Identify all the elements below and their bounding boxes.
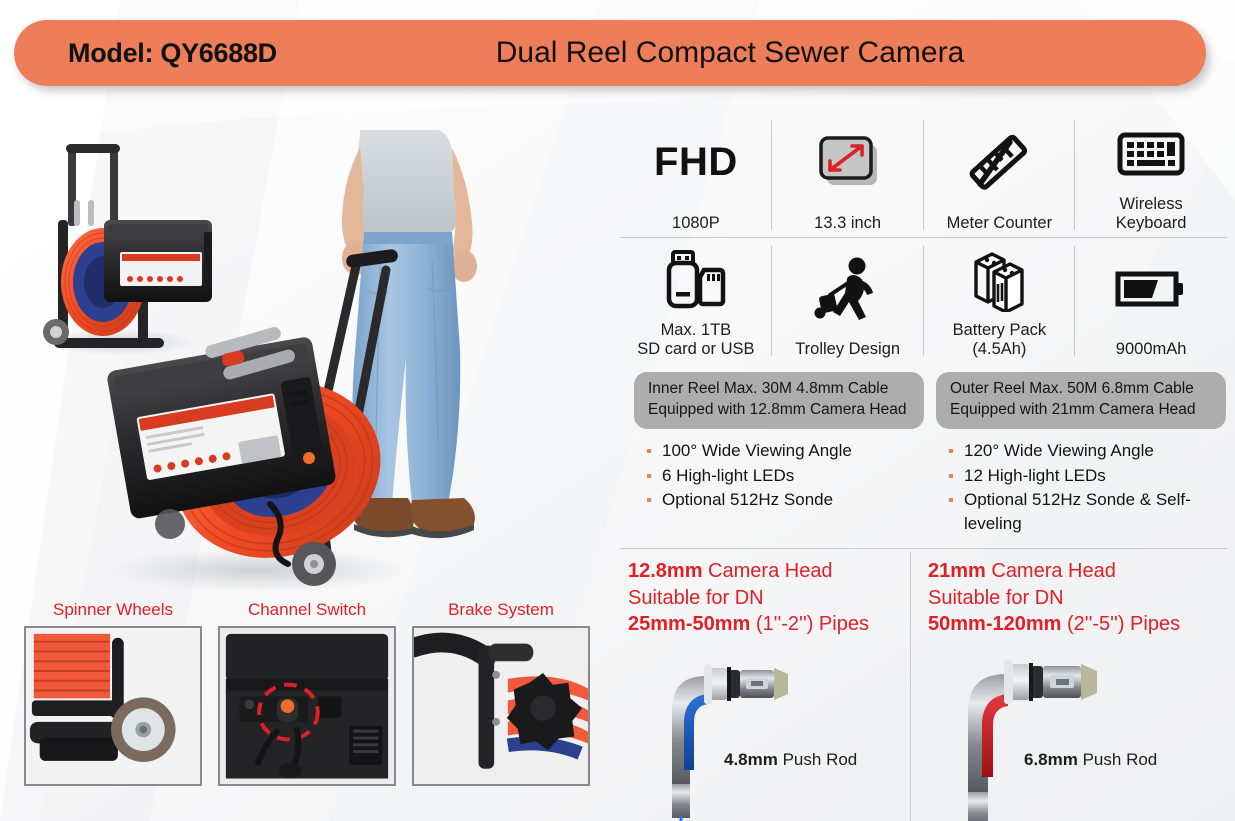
- list-item: 12 High-light LEDs: [948, 464, 1226, 487]
- spec-icon-grid: FHD 1080P 13.3 inch: [620, 112, 1227, 364]
- camera-head-range: 25mm-50mm: [628, 613, 750, 635]
- list-item: 6 High-light LEDs: [646, 464, 924, 487]
- camera-head-subtitle: Suitable for DN: [928, 587, 1064, 609]
- outer-reel-feature-list: 120° Wide Viewing Angle 12 High-light LE…: [936, 439, 1226, 535]
- usb-sdcard-icon: [620, 238, 772, 321]
- camera-head-illustration-large: 6.8mm Push Rod: [928, 650, 1218, 821]
- camera-head-title-rest: Camera Head: [986, 560, 1116, 582]
- spec-cell-capacity: 9000mAh: [1075, 238, 1227, 364]
- camera-head-size: 21mm: [928, 560, 986, 582]
- trolley-walker-icon: [772, 238, 924, 340]
- list-item: 120° Wide Viewing Angle: [948, 439, 1226, 462]
- battery-level-icon: [1075, 238, 1227, 340]
- camera-head-large: 21mm Camera Head Suitable for DN 50mm-12…: [928, 558, 1218, 821]
- spec-cell-keyboard: Wireless Keyboard: [1075, 112, 1227, 238]
- spec-label: Meter Counter: [947, 214, 1052, 232]
- spec-label: 9000mAh: [1116, 340, 1187, 358]
- spec-label: Trolley Design: [795, 340, 900, 358]
- camera-head-subtitle: Suitable for DN: [628, 587, 764, 609]
- thumbnail-brake-system: Brake System: [412, 600, 590, 800]
- camera-head-range: 50mm-120mm: [928, 613, 1061, 635]
- header-banner: Model: QY6688D Dual Reel Compact Sewer C…: [14, 20, 1206, 86]
- battery-pack-icon: [924, 238, 1076, 321]
- camera-head-range-rest: (2''-5'') Pipes: [1061, 613, 1180, 635]
- channel-switch-photo: [218, 626, 396, 786]
- push-rod-label: 6.8mm Push Rod: [1024, 750, 1157, 770]
- hero-product-photo: [8, 100, 608, 600]
- camera-head-range-rest: (1''-2'') Pipes: [750, 613, 869, 635]
- fhd-text-icon: FHD: [620, 112, 772, 214]
- product-spec-sheet: Model: QY6688D Dual Reel Compact Sewer C…: [0, 0, 1235, 821]
- inner-reel-callout: Inner Reel Max. 30M 4.8mm Cable Equipped…: [634, 372, 924, 429]
- spec-label: Wireless Keyboard: [1116, 195, 1187, 232]
- ruler-icon: [924, 112, 1076, 214]
- spec-cell-storage: Max. 1TB SD card or USB: [620, 238, 772, 364]
- thumbnail-caption: Brake System: [412, 600, 590, 620]
- camera-head-title-rest: Camera Head: [703, 560, 833, 582]
- inner-reel-line-2: Equipped with 12.8mm Camera Head: [648, 400, 910, 421]
- outer-reel-spec: Outer Reel Max. 50M 6.8mm Cable Equipped…: [936, 372, 1226, 536]
- push-rod-label: 4.8mm Push Rod: [724, 750, 857, 770]
- outer-reel-callout: Outer Reel Max. 50M 6.8mm Cable Equipped…: [936, 372, 1226, 429]
- thumbnail-caption: Channel Switch: [218, 600, 396, 620]
- camera-head-size: 12.8mm: [628, 560, 703, 582]
- inner-reel-spec: Inner Reel Max. 30M 4.8mm Cable Equipped…: [634, 372, 924, 513]
- push-rod-rest: Push Rod: [778, 750, 857, 769]
- inner-reel-feature-list: 100° Wide Viewing Angle 6 High-light LED…: [634, 439, 924, 511]
- feature-thumbnail-row: Spinner Wheels: [24, 600, 604, 800]
- push-rod-size: 4.8mm: [724, 750, 778, 769]
- page-title: Dual Reel Compact Sewer Camera: [14, 36, 1206, 70]
- spec-cell-trolley: Trolley Design: [772, 238, 924, 364]
- reel-specs-row: Inner Reel Max. 30M 4.8mm Cable Equipped…: [620, 372, 1227, 538]
- thumbnail-caption: Spinner Wheels: [24, 600, 202, 620]
- list-item: Optional 512Hz Sonde & Self-leveling: [948, 488, 1226, 535]
- push-rod-rest: Push Rod: [1078, 750, 1157, 769]
- keyboard-icon: [1075, 112, 1227, 195]
- thumbnail-channel-switch: Channel Switch: [218, 600, 396, 800]
- spec-label: 13.3 inch: [814, 214, 881, 232]
- spec-label: 1080P: [672, 214, 720, 232]
- left-panel: Spinner Wheels: [0, 100, 612, 821]
- list-item: Optional 512Hz Sonde: [646, 488, 924, 511]
- camera-head-title: 21mm Camera Head Suitable for DN 50mm-12…: [928, 558, 1218, 638]
- spec-cell-meter-counter: Meter Counter: [924, 112, 1076, 238]
- spec-cell-screen-size: 13.3 inch: [772, 112, 924, 238]
- spec-label: Battery Pack (4.5Ah): [953, 321, 1047, 358]
- screen-diagonal-icon: [772, 112, 924, 214]
- inner-reel-line-1: Inner Reel Max. 30M 4.8mm Cable: [648, 379, 910, 400]
- fhd-badge: FHD: [654, 140, 738, 185]
- right-panel: FHD 1080P 13.3 inch: [612, 100, 1235, 821]
- spec-label: Max. 1TB SD card or USB: [637, 321, 754, 358]
- spec-cell-resolution: FHD 1080P: [620, 112, 772, 238]
- push-rod-size: 6.8mm: [1024, 750, 1078, 769]
- outer-reel-line-1: Outer Reel Max. 50M 6.8mm Cable: [950, 379, 1212, 400]
- spinner-wheel-photo: [24, 626, 202, 786]
- camera-head-small: 12.8mm Camera Head Suitable for DN 25mm-…: [628, 558, 918, 821]
- camera-head-illustration-small: 4.8mm Push Rod: [628, 650, 918, 821]
- brake-system-photo: [412, 626, 590, 786]
- camera-head-title: 12.8mm Camera Head Suitable for DN 25mm-…: [628, 558, 918, 638]
- outer-reel-line-2: Equipped with 21mm Camera Head: [950, 400, 1212, 421]
- horizontal-divider: [620, 548, 1227, 549]
- thumbnail-spinner-wheels: Spinner Wheels: [24, 600, 202, 800]
- spec-cell-battery-pack: Battery Pack (4.5Ah): [924, 238, 1076, 364]
- list-item: 100° Wide Viewing Angle: [646, 439, 924, 462]
